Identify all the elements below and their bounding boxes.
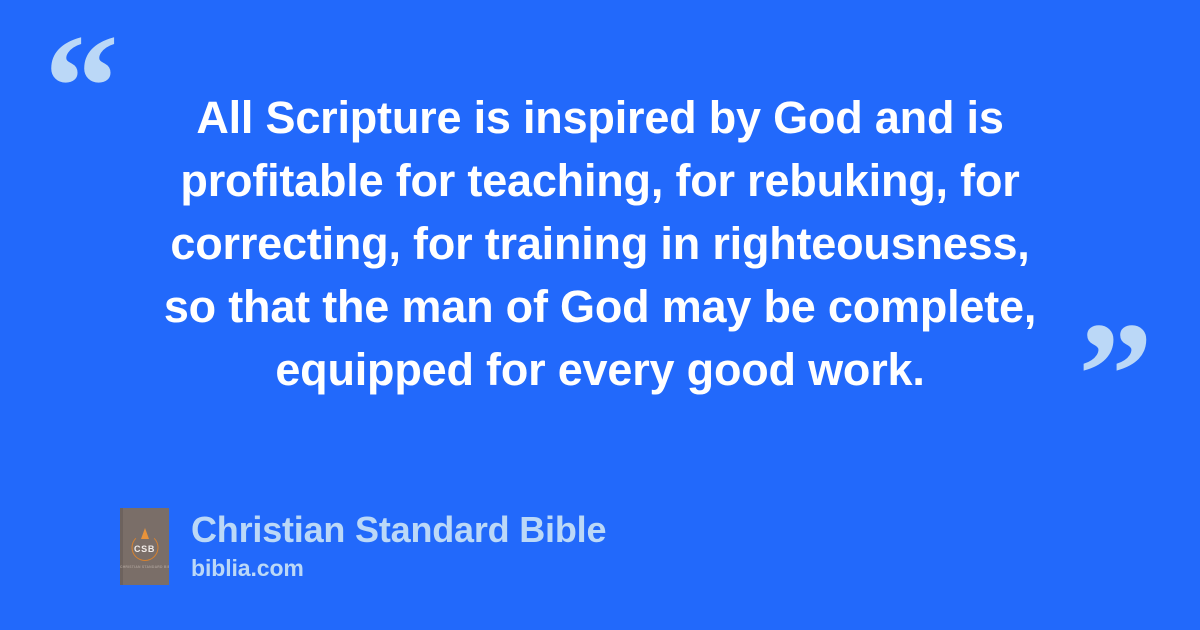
quote-line: equipped for every good work.	[100, 338, 1100, 401]
quote-text-block: All Scripture is inspired by God and is …	[100, 86, 1100, 401]
quote-line: so that the man of God may be complete,	[100, 275, 1100, 338]
emblem-label: CSB	[120, 544, 169, 554]
quote-card: “ All Scripture is inspired by God and i…	[0, 0, 1200, 630]
source-name: Christian Standard Bible	[191, 509, 606, 551]
flame-icon	[141, 528, 149, 539]
quote-line: profitable for teaching, for rebuking, f…	[100, 149, 1100, 212]
attribution: CSB CHRISTIAN STANDARD BIBLE Christian S…	[120, 508, 606, 585]
closing-quote-icon: ”	[1078, 300, 1153, 450]
quote-line: correcting, for training in righteousnes…	[100, 212, 1100, 275]
csb-book-cover-icon: CSB CHRISTIAN STANDARD BIBLE	[120, 508, 169, 585]
attribution-text: Christian Standard Bible biblia.com	[191, 508, 606, 583]
source-site[interactable]: biblia.com	[191, 553, 606, 583]
emblem-sublabel: CHRISTIAN STANDARD BIBLE	[120, 565, 169, 569]
quote-line: All Scripture is inspired by God and is	[100, 86, 1100, 149]
